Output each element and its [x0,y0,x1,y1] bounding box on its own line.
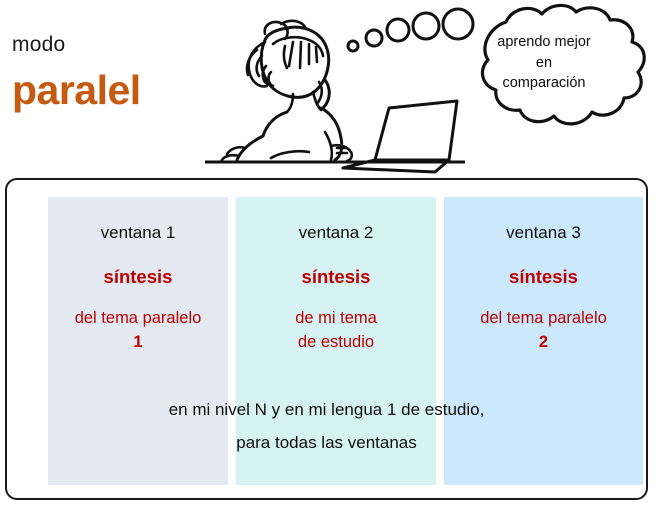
window-column-2-heading: síntesis [236,266,436,288]
bubble-line-2: en [468,53,620,74]
thought-dot-2 [366,30,382,46]
window-column-2-content: ventana 2 síntesis de mi tema de estudio [236,223,436,354]
panel-footer-line-1: en mi nivel N y en mi lengua 1 de estudi… [7,393,646,426]
bubble-line-3: comparación [468,73,620,94]
mode-name: paralel [12,68,141,113]
window-column-2-title: ventana 2 [236,223,436,243]
window-column-2-subline-2: de estudio [236,331,436,355]
windows-panel: ventana 1 síntesis del tema paralelo 1 v… [5,178,648,500]
window-column-1-content: ventana 1 síntesis del tema paralelo 1 [48,223,228,354]
window-column-1-subline-2: 1 [48,331,228,355]
panel-footer-line-2: para todas las ventanas [7,426,646,459]
window-column-3-heading: síntesis [444,266,643,288]
window-column-3-subline-2: 2 [444,331,643,355]
thought-dot-3 [387,19,409,41]
window-column-3-subline-1: del tema paralelo [444,307,643,331]
window-column-1-title: ventana 1 [48,223,228,243]
thought-bubble-text: aprendo mejor en comparación [468,32,620,94]
mode-label: modo [12,34,65,55]
header-zone: modo paralel [0,0,657,178]
window-column-2-subline-1: de mi tema [236,307,436,331]
thought-dot-1 [348,41,358,51]
thought-dot-4 [413,13,439,39]
window-column-3-title: ventana 3 [444,223,643,243]
bubble-line-1: aprendo mejor [468,32,620,53]
window-column-1-heading: síntesis [48,266,228,288]
panel-footer-note: en mi nivel N y en mi lengua 1 de estudi… [7,393,646,459]
window-column-3-content: ventana 3 síntesis del tema paralelo 2 [444,223,643,354]
window-column-1-subline-1: del tema paralelo [48,307,228,331]
